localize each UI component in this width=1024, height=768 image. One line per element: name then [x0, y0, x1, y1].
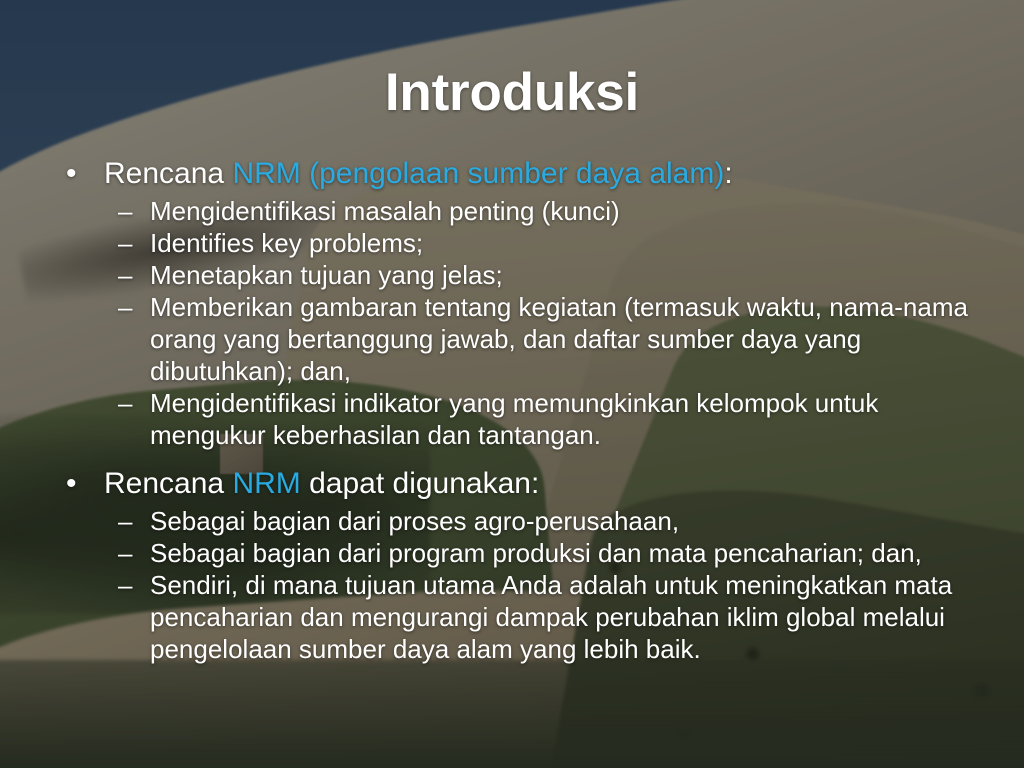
sub-bullet-label: Menetapkan tujuan yang jelas;: [150, 260, 503, 290]
slide-title: Introduksi: [0, 62, 1024, 123]
sub-bullet: –Sendiri, di mana tujuan utama Anda adal…: [118, 569, 994, 665]
dash-marker-icon: –: [118, 195, 132, 227]
dash-marker-icon: –: [118, 227, 132, 259]
sub-bullet-label: Identifies key problems;: [150, 228, 423, 258]
dash-marker-icon: –: [118, 537, 132, 569]
bullet-accent-text: NRM: [232, 467, 300, 500]
bullet-list: •Rencana NRM (pengolaan sumber daya alam…: [60, 155, 994, 665]
bullet-text-before: Rencana: [104, 467, 232, 500]
bullet-text-after: dapat digunakan:: [301, 467, 540, 500]
sub-bullet: –Memberikan gambaran tentang kegiatan (t…: [118, 291, 994, 387]
sub-bullet: –Mengidentifikasi indikator yang memungk…: [118, 387, 994, 451]
sub-bullet: –Sebagai bagian dari program produksi da…: [118, 537, 994, 569]
dash-marker-icon: –: [118, 291, 132, 323]
sub-bullet-label: Sebagai bagian dari program produksi dan…: [150, 538, 922, 568]
sub-bullet-label: Sendiri, di mana tujuan utama Anda adala…: [150, 570, 952, 664]
sub-bullet: –Identifies key problems;: [118, 227, 994, 259]
dash-marker-icon: –: [118, 505, 132, 537]
dash-marker-icon: –: [118, 387, 132, 419]
bullet-text-before: Rencana: [104, 157, 232, 190]
sub-bullet: –Menetapkan tujuan yang jelas;: [118, 259, 994, 291]
bullet-text-after: :: [724, 157, 732, 190]
bullet-marker-icon: •: [66, 155, 77, 193]
sub-bullet-label: Mengidentifikasi indikator yang memungki…: [150, 388, 878, 450]
bullet-marker-icon: •: [66, 465, 77, 503]
dash-marker-icon: –: [118, 259, 132, 291]
bullet-accent-text: NRM (pengolaan sumber daya alam): [232, 157, 724, 190]
sub-bullet-label: Sebagai bagian dari proses agro-perusaha…: [150, 506, 679, 536]
sub-bullet: –Sebagai bagian dari proses agro-perusah…: [118, 505, 994, 537]
sub-bullet: –Mengidentifikasi masalah penting (kunci…: [118, 195, 994, 227]
slide-content: Introduksi •Rencana NRM (pengolaan sumbe…: [0, 0, 1024, 768]
bullet-group-spacer: [60, 451, 994, 465]
sub-bullet-label: Memberikan gambaran tentang kegiatan (te…: [150, 292, 968, 386]
presentation-slide: Introduksi •Rencana NRM (pengolaan sumbe…: [0, 0, 1024, 768]
sub-bullet-label: Mengidentifikasi masalah penting (kunci): [150, 196, 620, 226]
bullet-level1: •Rencana NRM (pengolaan sumber daya alam…: [60, 155, 994, 193]
dash-marker-icon: –: [118, 569, 132, 601]
bullet-level1: •Rencana NRM dapat digunakan:: [60, 465, 994, 503]
